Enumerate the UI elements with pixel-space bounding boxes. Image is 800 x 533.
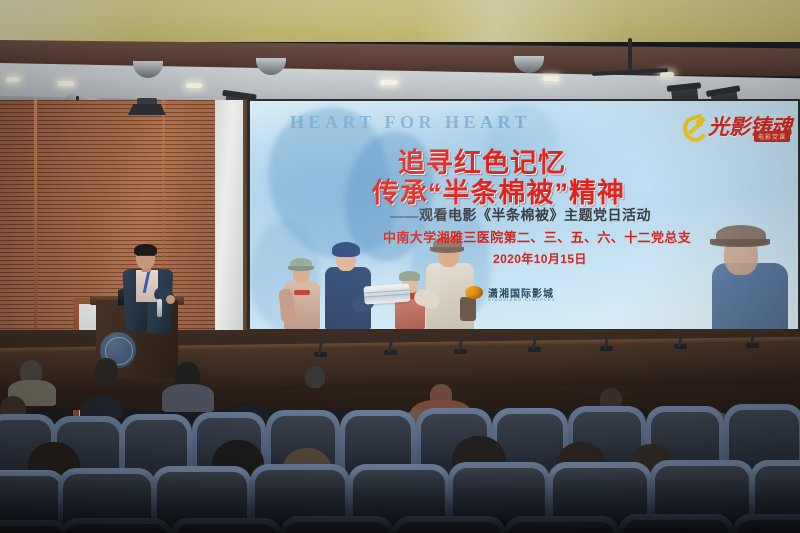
- auditorium-photo: HEART FOR HEART 光影铸魂 电影党课: [0, 0, 800, 533]
- hammer-sickle-icon: [682, 114, 706, 138]
- figure-villager-woman: [322, 239, 374, 329]
- figure-red-army-soldier: [422, 233, 478, 329]
- auditorium-seat[interactable]: [618, 514, 734, 533]
- downlight-icon: [380, 80, 398, 85]
- auditorium-seat[interactable]: [392, 516, 506, 533]
- screen-organizer: 中南大学湘雅三医院第二、三、五、六、十二党总支: [383, 227, 691, 246]
- handheld-microphone-icon: [157, 299, 162, 317]
- downlight-icon: [6, 77, 20, 82]
- ceiling-panel-yellow: [0, 0, 800, 42]
- attendee-head: [95, 358, 118, 383]
- quilt-prop: [363, 283, 410, 304]
- glasses-icon: [137, 255, 155, 260]
- downlight-icon: [58, 81, 74, 86]
- audience-area: [0, 352, 800, 533]
- downlight-icon: [186, 83, 202, 88]
- poster-illustration-figures: [272, 233, 472, 329]
- downlight-icon: [660, 72, 674, 77]
- speaker-presenter: [118, 243, 180, 338]
- auditorium-seat[interactable]: [280, 516, 394, 533]
- projection-screen: HEART FOR HEART 光影铸魂 电影党课: [250, 101, 798, 329]
- speaker-hand: [166, 295, 175, 304]
- auditorium-seat[interactable]: [732, 514, 800, 533]
- screen-watermark-text: HEART FOR HEART: [290, 112, 531, 133]
- auditorium-seat[interactable]: [170, 518, 282, 533]
- attendee-shoulders: [162, 384, 214, 412]
- light-hanger: [628, 38, 632, 72]
- figure-young-soldier: [280, 255, 324, 329]
- brand-logo-sublabel: 电影党课: [754, 131, 790, 142]
- attendee-head: [305, 366, 325, 388]
- screen-subtitle: ——观看电影《半条棉被》主题党日活动: [390, 205, 651, 225]
- wall-lamp-icon: [128, 96, 166, 120]
- cinema-mark-icon: [465, 286, 483, 299]
- downlight-icon: [543, 76, 559, 81]
- screen-date: 2020年10月15日: [493, 250, 587, 267]
- auditorium-seat[interactable]: [60, 518, 172, 533]
- poster-portrait-soldier: [698, 213, 790, 329]
- cinema-logo-text-en: XIAOXIANG CINEPLEX: [488, 297, 556, 302]
- auditorium-seat[interactable]: [504, 516, 620, 533]
